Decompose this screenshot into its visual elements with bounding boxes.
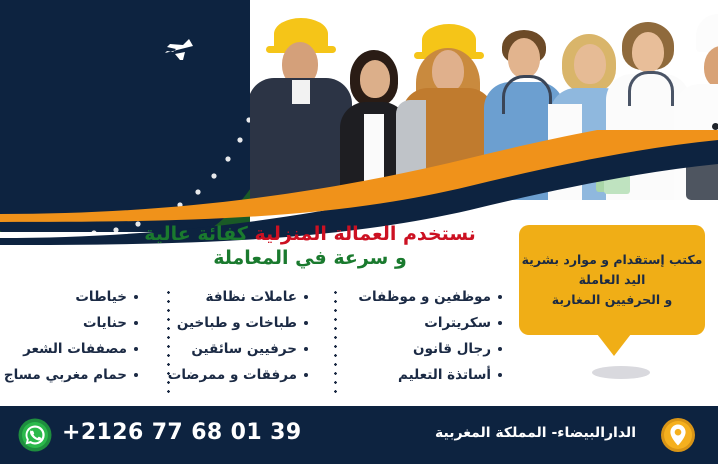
list-item-label: حنايات bbox=[83, 315, 127, 331]
bullet-icon bbox=[304, 347, 308, 351]
agency-card-line-3: و الحرفيين المغاربة bbox=[552, 290, 672, 310]
list-item: حرفيين سائقين bbox=[158, 336, 308, 362]
services-column-left: خياطات حنايات مصففات الشعر حمام مغربي مس… bbox=[0, 284, 148, 402]
agency-card-pointer bbox=[597, 334, 631, 356]
agency-card-shadow bbox=[592, 366, 650, 379]
bullet-icon bbox=[134, 295, 138, 299]
list-item: مرفقات و ممرضات bbox=[158, 362, 308, 388]
list-item-label: عاملات نظافة bbox=[206, 289, 297, 305]
list-item-label: حرفيين سائقين bbox=[191, 341, 297, 357]
headline-line-1-green: كفائة عالية bbox=[144, 223, 248, 245]
list-item: حمام مغربي مساج bbox=[10, 362, 138, 388]
list-item-label: أساتذة التعليم bbox=[398, 367, 491, 383]
agency-card-line-2: اليد العاملة bbox=[579, 270, 646, 290]
bullet-icon bbox=[134, 373, 138, 377]
agency-card-line-1: مكتب إستقدام و موارد بشرية bbox=[522, 250, 703, 270]
bullet-icon bbox=[134, 321, 138, 325]
list-item: مصففات الشعر bbox=[10, 336, 138, 362]
headline: نستخدم العمالة المنزلية كفائة عالية و سر… bbox=[110, 222, 510, 270]
headline-line-2: و سرعة في المعاملة bbox=[110, 246, 510, 270]
bullet-icon bbox=[498, 295, 502, 299]
list-item-label: مصففات الشعر bbox=[23, 341, 127, 357]
poster-canvas: نستخدم العمالة المنزلية كفائة عالية و سر… bbox=[0, 0, 718, 464]
airplane-icon bbox=[163, 36, 197, 66]
list-item: خياطات bbox=[10, 284, 138, 310]
list-item-label: سكريترات bbox=[424, 315, 491, 331]
bullet-icon bbox=[498, 347, 502, 351]
phone-number[interactable]: +2126 77 68 01 39 bbox=[62, 420, 302, 445]
whatsapp-icon[interactable] bbox=[18, 418, 52, 452]
list-item: عاملات نظافة bbox=[158, 284, 308, 310]
list-item: سكريترات bbox=[328, 310, 502, 336]
bullet-icon bbox=[134, 347, 138, 351]
list-item: رجال قانون bbox=[328, 336, 502, 362]
list-item-label: مرفقات و ممرضات bbox=[168, 367, 297, 383]
headline-line-1-red: نستخدم العمالة المنزلية bbox=[254, 223, 475, 245]
bullet-icon bbox=[498, 321, 502, 325]
list-item-label: موظفين و موظفات bbox=[358, 289, 491, 305]
location-label: الدارالبيضاء- المملكة المغربية bbox=[435, 425, 636, 441]
list-item-label: خياطات bbox=[75, 289, 127, 305]
list-item-label: طباخات و طباخين bbox=[177, 315, 297, 331]
list-item: طباخات و طباخين bbox=[158, 310, 308, 336]
location-pin-icon bbox=[660, 417, 696, 453]
list-item-label: حمام مغربي مساج bbox=[4, 367, 127, 383]
bullet-icon bbox=[304, 295, 308, 299]
headline-line-1: نستخدم العمالة المنزلية كفائة عالية bbox=[110, 222, 510, 246]
agency-card: مكتب إستقدام و موارد بشرية اليد العاملة … bbox=[519, 225, 705, 335]
list-item: موظفين و موظفات bbox=[328, 284, 502, 310]
contact-footer-bar: +2126 77 68 01 39 الدارالبيضاء- المملكة … bbox=[0, 406, 718, 464]
bullet-icon bbox=[498, 373, 502, 377]
services-column-right: موظفين و موظفات سكريترات رجال قانون أسات… bbox=[318, 284, 512, 402]
bullet-icon bbox=[304, 321, 308, 325]
bullet-icon bbox=[304, 373, 308, 377]
services-column-middle: عاملات نظافة طباخات و طباخين حرفيين سائق… bbox=[148, 284, 318, 402]
services-lists: خياطات حنايات مصففات الشعر حمام مغربي مس… bbox=[0, 284, 512, 402]
list-item: أساتذة التعليم bbox=[328, 362, 502, 388]
list-item: حنايات bbox=[10, 310, 138, 336]
list-item-label: رجال قانون bbox=[413, 341, 491, 357]
